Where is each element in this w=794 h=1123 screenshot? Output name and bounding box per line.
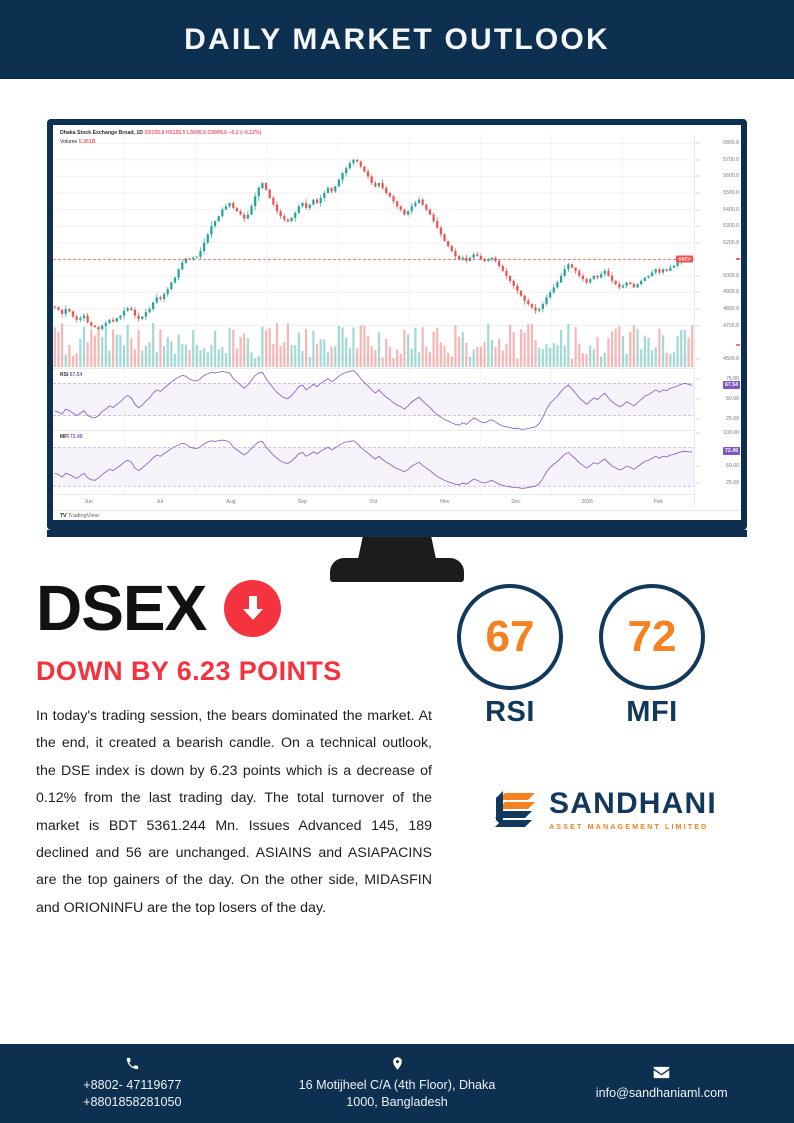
- tradingview-label: TradingView: [68, 513, 99, 519]
- axis-tick-label: 4800.0: [723, 306, 739, 312]
- monitor-bezel: Dhaka Stock Exchange Broad, 1D O5105.8 H…: [47, 119, 747, 530]
- axis-tick-label: 5500.0: [723, 190, 739, 196]
- axis-tick-label: 5300.0: [723, 223, 739, 229]
- axis-tick-dash: [696, 159, 700, 160]
- logo-tagline: ASSET MANAGEMENT LIMITED: [549, 822, 717, 831]
- location-pin-icon: [390, 1056, 405, 1071]
- axis-tick-dash: [696, 209, 700, 210]
- time-axis[interactable]: JunJulAugSepOctNovDec2026Feb: [53, 494, 694, 510]
- mfi-panel-label: MFI 72.49: [60, 434, 83, 440]
- axis-tick-dash: [696, 325, 700, 326]
- rsi-name: RSI: [60, 372, 68, 378]
- tradingview-brand[interactable]: TV TradingView: [60, 513, 99, 519]
- axis-tick-dash: [696, 242, 700, 243]
- axis-tick-label: 50.00: [726, 463, 739, 469]
- time-axis-tick: Nov: [440, 499, 449, 505]
- axis-tick-label: 5600.0: [723, 173, 739, 179]
- axis-tick-dash: [696, 399, 700, 400]
- price-badge: [736, 258, 740, 260]
- mfi-reading: 72.49: [70, 434, 83, 440]
- mfi-series: [53, 431, 694, 494]
- gauge-rsi: 67 RSI: [455, 584, 565, 729]
- axis-tick-dash: [696, 143, 700, 144]
- axis-tick-dash: [696, 193, 700, 194]
- axis-tick-label: 25.00: [726, 480, 739, 486]
- chart-open-value: O5105.8: [144, 130, 164, 136]
- chart-legend: Dhaka Stock Exchange Broad, 1D O5105.8 H…: [60, 129, 261, 147]
- axis-tick-dash: [696, 309, 700, 310]
- gauge-mfi-circle: 72: [599, 584, 705, 690]
- axis-tick-label: 5400.0: [723, 207, 739, 213]
- price-panel: [53, 135, 694, 367]
- rsi-reading: 67.54: [70, 372, 83, 378]
- gauge-mfi-label: MFI: [597, 696, 707, 729]
- axis-tick-dash: [696, 358, 700, 359]
- indicators-column: 67 RSI 72 MFI SANDHANI ASSET MA: [455, 576, 755, 833]
- rsi-series: [53, 369, 694, 430]
- axis-tick-label: 4900.0: [723, 289, 739, 295]
- tradingview-logo-icon: TV: [60, 513, 66, 519]
- monitor-section: Dhaka Stock Exchange Broad, 1D O5105.8 H…: [0, 84, 794, 566]
- chart-high-value: H5126.5: [166, 130, 186, 136]
- page-header: DAILY MARKET OUTLOOK: [0, 0, 794, 79]
- axis-tick-label: 5800.0: [723, 140, 739, 146]
- logo-company-name: SANDHANI: [549, 789, 717, 819]
- footer-phone: +8802- 47119677 +8801858281050: [0, 1056, 265, 1111]
- footer-phone-line2: +8801858281050: [0, 1094, 265, 1111]
- mfi-name: MFI: [60, 434, 69, 440]
- footer-address: 16 Motijheel C/A (4th Floor), Dhaka 1000…: [265, 1056, 530, 1111]
- company-logo: SANDHANI ASSET MANAGEMENT LIMITED: [491, 787, 755, 833]
- candlestick-series: [53, 135, 694, 367]
- axis-tick-dash: [696, 292, 700, 293]
- logo-text-block: SANDHANI ASSET MANAGEMENT LIMITED: [549, 789, 717, 831]
- footer-address-line2: 1000, Bangladesh: [265, 1094, 530, 1111]
- axis-tick-label: 25.00: [726, 416, 739, 422]
- rsi-panel: RSI 67.54: [53, 368, 694, 430]
- time-axis-tick: 2026: [581, 499, 593, 505]
- chart-symbol-label: Dhaka Stock Exchange Broad, 1D: [60, 130, 143, 136]
- gauge-mfi-value: 72: [628, 612, 677, 662]
- monitor-bottom-bar: [47, 530, 747, 537]
- mfi-panel: MFI 72.49: [53, 430, 694, 494]
- axis-tick-label: 4500.0: [723, 356, 739, 362]
- axis-tick-dash: [696, 176, 700, 177]
- monitor-screen: Dhaka Stock Exchange Broad, 1D O5105.8 H…: [53, 125, 741, 520]
- content-section: DSEX DOWN BY 6.23 POINTS In today's trad…: [0, 576, 794, 922]
- time-axis-tick: Jun: [84, 499, 92, 505]
- envelope-icon: [653, 1066, 670, 1079]
- gauge-rsi-circle: 67: [457, 584, 563, 690]
- chart-footer: TV TradingView: [53, 510, 741, 520]
- chart-change-value: −6.2 (−0.12%): [229, 130, 262, 136]
- price-line-symbol-tag: DSEX: [676, 256, 693, 263]
- volume-badge: [736, 344, 740, 346]
- footer-address-line1: 16 Motijheel C/A (4th Floor), Dhaka: [265, 1077, 530, 1094]
- axis-tick-dash: [696, 226, 700, 227]
- chart-volume-label: Volume: [60, 139, 77, 145]
- axis-tick-label: 5000.0: [723, 273, 739, 279]
- axis-tick-label: 5200.0: [723, 240, 739, 246]
- price-axis[interactable]: 5800.05700.05600.05500.05400.05300.05200…: [694, 135, 741, 506]
- axis-tick-label: 100.00: [723, 430, 739, 436]
- mfi-badge: 72.49: [723, 447, 740, 455]
- rsi-badge: 67.54: [723, 381, 740, 389]
- gauge-rsi-label: RSI: [455, 696, 565, 729]
- axis-tick-dash: [696, 433, 700, 434]
- time-axis-tick: Sep: [298, 499, 307, 505]
- time-axis-tick: Oct: [369, 499, 377, 505]
- footer-email-address: info@sandhaniaml.com: [529, 1085, 794, 1102]
- chart-low-value: L5095.6: [187, 130, 206, 136]
- market-summary-paragraph: In today's trading session, the bears do…: [36, 703, 432, 922]
- sandhani-mark-icon: [491, 787, 539, 833]
- time-axis-tick: Aug: [226, 499, 235, 505]
- footer-email: info@sandhaniaml.com: [529, 1066, 794, 1102]
- gauge-rsi-value: 67: [486, 612, 535, 662]
- time-axis-tick: Jul: [157, 499, 164, 505]
- arrow-down-icon: [224, 580, 281, 637]
- axis-tick-dash: [696, 419, 700, 420]
- index-name: DSEX: [36, 576, 206, 640]
- time-axis-tick: Dec: [511, 499, 520, 505]
- phone-icon: [125, 1056, 140, 1071]
- axis-tick-label: 50.00: [726, 396, 739, 402]
- axis-tick-dash: [696, 466, 700, 467]
- monitor-neck: [358, 537, 436, 559]
- rsi-panel-label: RSI 67.54: [60, 372, 82, 378]
- page-footer: +8802- 47119677 +8801858281050 16 Motijh…: [0, 1040, 794, 1123]
- axis-tick-label: 4700.0: [723, 323, 739, 329]
- footer-phone-line1: +8802- 47119677: [0, 1077, 265, 1094]
- axis-tick-dash: [696, 482, 700, 483]
- tradingview-chart[interactable]: Dhaka Stock Exchange Broad, 1D O5105.8 H…: [53, 125, 741, 520]
- time-axis-tick: Feb: [654, 499, 663, 505]
- chart-volume-value: 5.361B: [79, 139, 96, 145]
- indicator-gauges: 67 RSI 72 MFI: [455, 584, 755, 729]
- arrow-down-glyph: [238, 592, 268, 624]
- page-title: DAILY MARKET OUTLOOK: [184, 23, 610, 57]
- axis-tick-label: 5700.0: [723, 157, 739, 163]
- chart-close-value: C5099.6: [207, 130, 227, 136]
- axis-tick-dash: [696, 378, 700, 379]
- gauge-mfi: 72 MFI: [597, 584, 707, 729]
- axis-tick-dash: [696, 275, 700, 276]
